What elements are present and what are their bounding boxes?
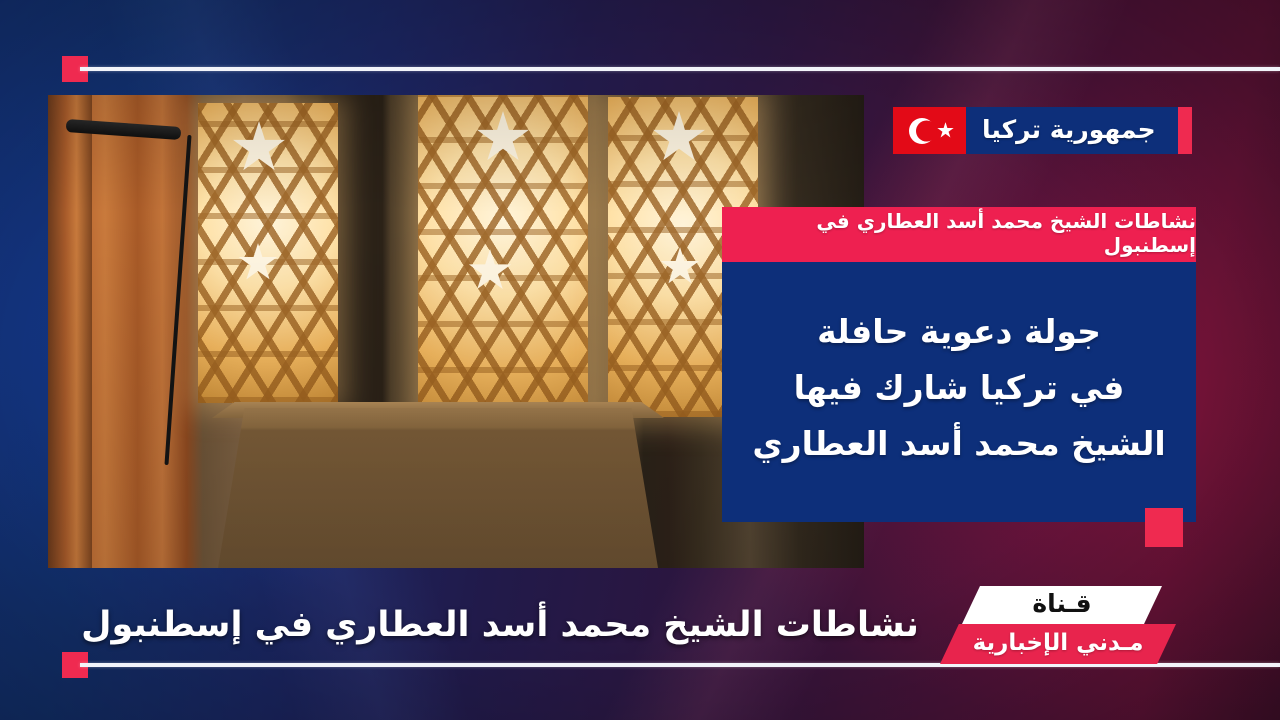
channel-logo-bottom-text: مـدني الإخبارية xyxy=(973,630,1144,659)
star-icon xyxy=(937,122,954,139)
headline-panel: جولة دعوية حافلة في تركيا شارك فيها الشي… xyxy=(722,262,1196,522)
badge-pin xyxy=(1178,107,1192,154)
channel-logo-top: قـناة xyxy=(962,586,1162,624)
channel-logo: قـناة مـدني الإخبارية xyxy=(940,586,1190,668)
headline-line-2: في تركيا شارك فيها xyxy=(794,369,1125,407)
top-divider-line xyxy=(80,67,1280,71)
headline-line-3: الشيخ محمد أسد العطاري xyxy=(752,425,1165,463)
country-badge: جمهورية تركيا xyxy=(893,107,1192,154)
channel-logo-bottom: مـدني الإخبارية xyxy=(940,624,1176,664)
crescent-inner xyxy=(916,120,937,141)
headline-accent-square xyxy=(1145,508,1183,547)
bottom-caption: نشاطات الشيخ محمد أسد العطاري في إسطنبول xyxy=(60,596,940,654)
headline-line-1: جولة دعوية حافلة xyxy=(817,313,1101,351)
headline-kicker: نشاطات الشيخ محمد أسد العطاري في إسطنبول xyxy=(722,207,1196,262)
channel-logo-top-text: قـناة xyxy=(1032,589,1091,621)
turkey-flag-icon xyxy=(893,107,966,154)
country-label: جمهورية تركيا xyxy=(966,107,1178,154)
